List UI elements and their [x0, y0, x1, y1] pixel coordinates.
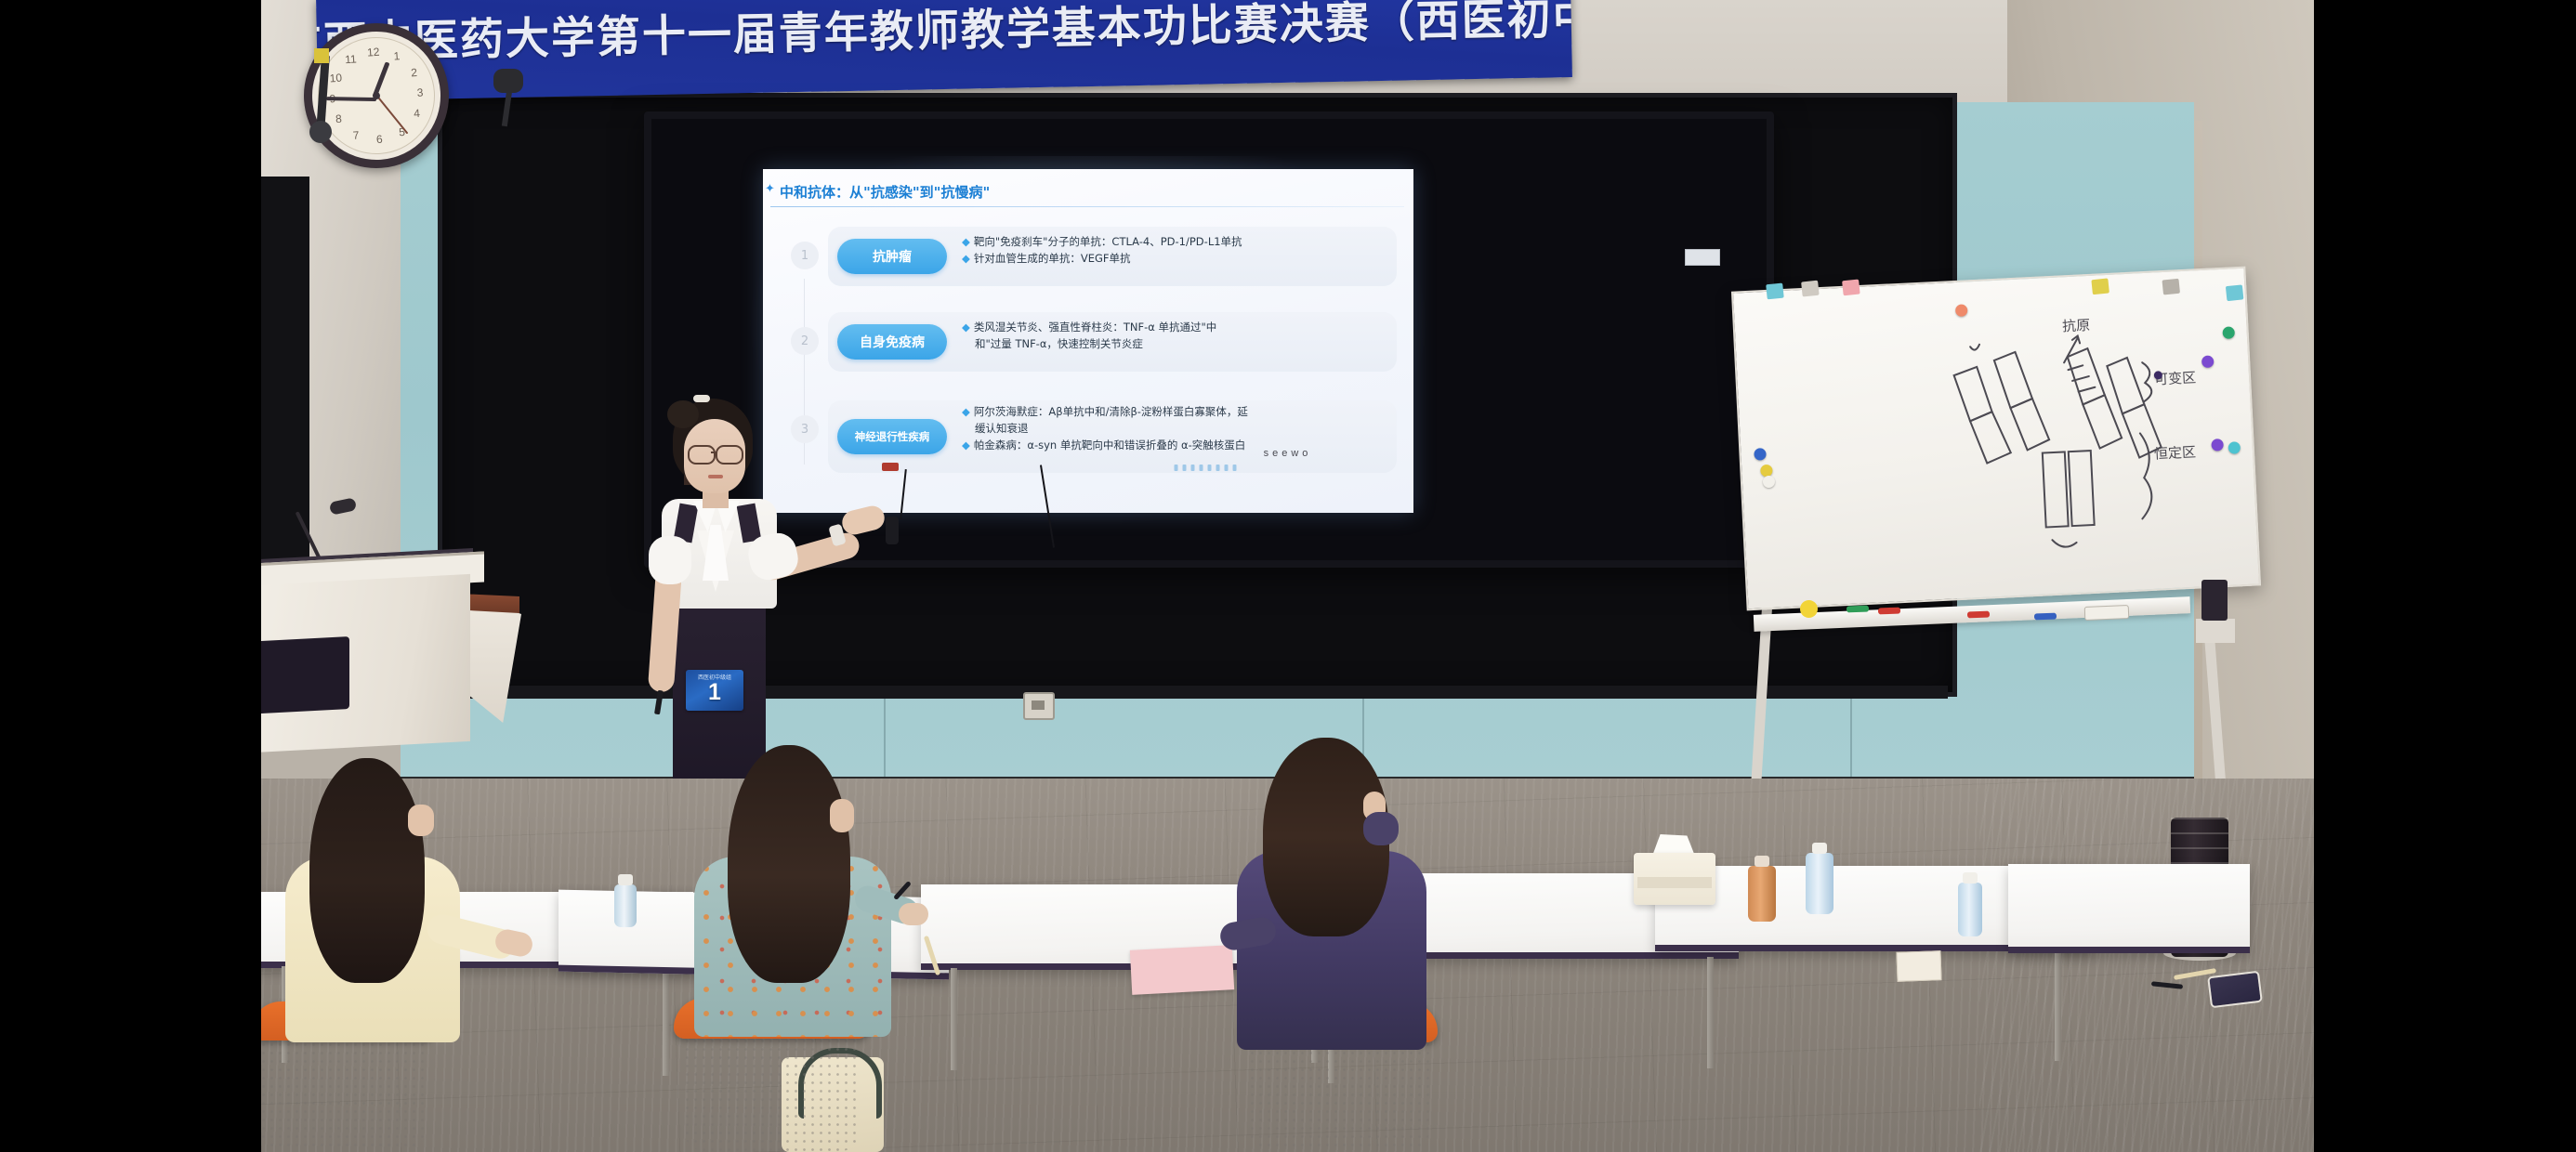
lectern-control-screen[interactable]	[261, 636, 349, 714]
bullet-icon: ◆	[962, 321, 970, 334]
judge-cheek	[830, 799, 854, 832]
marker-red2-icon[interactable]	[1967, 611, 1990, 619]
bullet-text: 靶向"免疫刹车"分子的单抗：CTLA-4、PD-1/PD-L1单抗	[974, 235, 1242, 248]
judges-table	[2008, 864, 2250, 953]
slide-row: 2 自身免疫病 ◆类风湿关节炎、强直性脊柱炎：TNF-α 单抗通过"中 和"过量…	[796, 308, 1397, 375]
tissue-box-band	[1637, 877, 1712, 888]
judge-left	[261, 753, 586, 1152]
bullet-text: 类风湿关节炎、强直性脊柱炎：TNF-α 单抗通过"中	[974, 321, 1216, 334]
display-brand-logo: seewo	[1264, 448, 1312, 459]
screenshot-stage: 广西中医药大学第十一届青年教师教学基本功比赛决赛（西医初中级组） 12 1 2 …	[0, 0, 2576, 1152]
water-bottle	[614, 884, 637, 927]
bullet-icon: ◆	[962, 252, 970, 265]
judge-hand	[899, 903, 928, 925]
classroom-photo: 广西中医药大学第十一届青年教师教学基本功比赛决赛（西医初中级组） 12 1 2 …	[261, 0, 2314, 1152]
bullet-icon: ◆	[962, 439, 970, 452]
bullet-text: 针对血管生成的单抗：VEGF单抗	[974, 252, 1131, 265]
small-box	[1896, 950, 1941, 982]
slide-title-marker-icon: ✦	[765, 184, 774, 193]
glasses-bridge-icon	[711, 452, 717, 453]
smartphone[interactable]	[2207, 971, 2263, 1009]
milk-tea-bottle	[1748, 866, 1776, 922]
whiteboard[interactable]: 抗原 可变区 恒定区	[1731, 267, 2261, 611]
slide-step-number: 2	[791, 327, 819, 355]
svg-text:恒定区: 恒定区	[2154, 444, 2197, 463]
banner-clip	[314, 48, 329, 63]
presenter-hair-bun	[667, 400, 699, 428]
judge-hair	[728, 745, 850, 983]
binder-clip-icon	[2226, 284, 2244, 301]
svg-text:抗原: 抗原	[2062, 317, 2091, 334]
slide-step-number: 1	[791, 242, 819, 269]
binder-clip-icon	[2091, 278, 2109, 295]
presenter-clicker	[654, 690, 664, 715]
slide-title: 中和抗体：从"抗感染"到"抗慢病"	[780, 182, 1397, 202]
presenter-hand	[840, 504, 887, 537]
binder-clip-icon	[2162, 279, 2180, 295]
slide-row-bullets: ◆阿尔茨海默症：Aβ单抗中和/清除β-淀粉样蛋白寡聚体，延 缓认知衰退 ◆帕金森…	[962, 404, 1384, 453]
wall-socket	[1023, 692, 1055, 720]
bullet-text: 和"过量 TNF-α，快速控制关节炎症	[975, 337, 1143, 350]
tray-cup-plate	[2196, 619, 2235, 643]
ceiling-camera-icon	[493, 69, 523, 93]
judge-right	[1200, 734, 1553, 1152]
contestant-badge-number: 1	[686, 681, 743, 704]
tray-cup-holder	[2201, 580, 2228, 621]
bullet-icon: ◆	[962, 235, 970, 248]
marker-blue-icon[interactable]	[2034, 613, 2057, 621]
binder-clip-icon	[1801, 281, 1820, 297]
slide-row-pill: 自身免疫病	[837, 324, 947, 360]
whiteboard-eraser[interactable]	[2084, 605, 2130, 621]
clock-face: 12 1 2 3 4 5 6 7 8 9 10 11	[314, 33, 439, 158]
letterbox-bar-left	[0, 0, 261, 1152]
judge-shoulder	[1363, 812, 1399, 845]
bullet-text: 帕金森病：α-syn 单抗靶向中和错误折叠的 α-突触核蛋白	[974, 439, 1245, 452]
marker-green-icon[interactable]	[1847, 606, 1869, 613]
whiteboard-drawing: 抗原 可变区 恒定区	[1733, 268, 2259, 609]
bullet-icon: ◆	[962, 405, 970, 418]
slide-row-bullets: ◆类风湿关节炎、强直性脊柱炎：TNF-α 单抗通过"中 和"过量 TNF-α，快…	[962, 320, 1384, 353]
wall-hdmi-plate	[1685, 249, 1720, 266]
contestant-badge: 西医初中级组 1	[686, 670, 743, 711]
slide-row-bullets: ◆靶向"免疫刹车"分子的单抗：CTLA-4、PD-1/PD-L1单抗 ◆针对血管…	[962, 234, 1384, 268]
bullet-text: 阿尔茨海默症：Aβ单抗中和/清除β-淀粉样蛋白寡聚体，延	[974, 405, 1248, 418]
judge-hair	[309, 758, 425, 983]
letterbox-bar-right	[2314, 0, 2576, 1152]
binder-clip-icon	[1766, 283, 1784, 300]
judge-cheek	[408, 805, 434, 836]
wood-floor-right	[1979, 779, 2314, 1152]
chair-back	[261, 1024, 427, 1152]
presenter-hair-clip	[693, 395, 710, 402]
glasses-lens-left-icon	[688, 445, 716, 465]
presenter-sleeve-left	[649, 536, 691, 584]
banner-hook	[309, 121, 332, 143]
clock-second-hand	[376, 96, 408, 135]
presenter-mouth	[708, 475, 723, 478]
chair-back	[683, 1020, 861, 1152]
banner-title: 广西中医药大学第十一届青年教师教学基本功比赛决赛（西医初中级组）	[316, 0, 1572, 72]
slide-row: 1 抗肿瘤 ◆靶向"免疫刹车"分子的单抗：CTLA-4、PD-1/PD-L1单抗…	[796, 223, 1397, 290]
water-bottle	[1806, 853, 1833, 914]
display-indicator-leds	[1175, 465, 1237, 471]
binder-clip-icon	[1842, 280, 1860, 296]
bullet-text: 缓认知衰退	[975, 422, 1029, 435]
slide-row-pill: 抗肿瘤	[837, 239, 947, 274]
glasses-lens-right-icon	[716, 445, 743, 465]
whiteboard-easel: 抗原 可变区 恒定区	[1739, 279, 2287, 836]
water-bottle	[1958, 883, 1982, 936]
marker-red-icon[interactable]	[1878, 608, 1900, 615]
judge-center	[670, 743, 1005, 1152]
slide-title-rule	[770, 206, 1404, 207]
